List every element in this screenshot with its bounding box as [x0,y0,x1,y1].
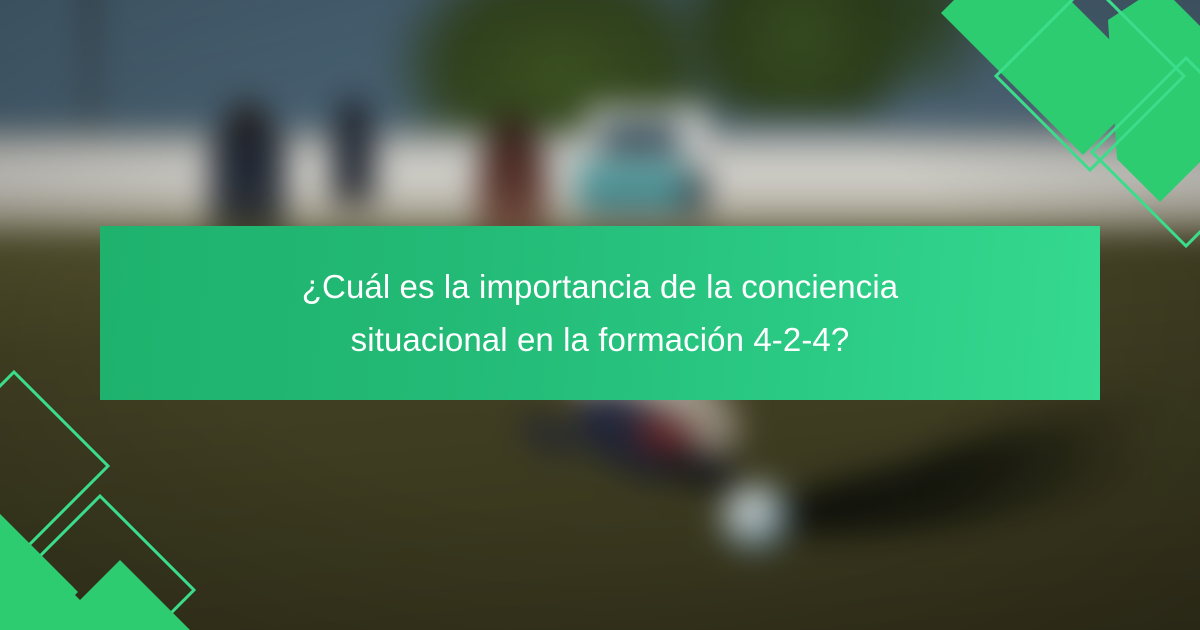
headline-text: ¿Cuál es la importancia de la conciencia… [250,260,950,367]
headline-banner: ¿Cuál es la importancia de la conciencia… [100,226,1100,400]
share-card-canvas: ¿Cuál es la importancia de la conciencia… [0,0,1200,630]
